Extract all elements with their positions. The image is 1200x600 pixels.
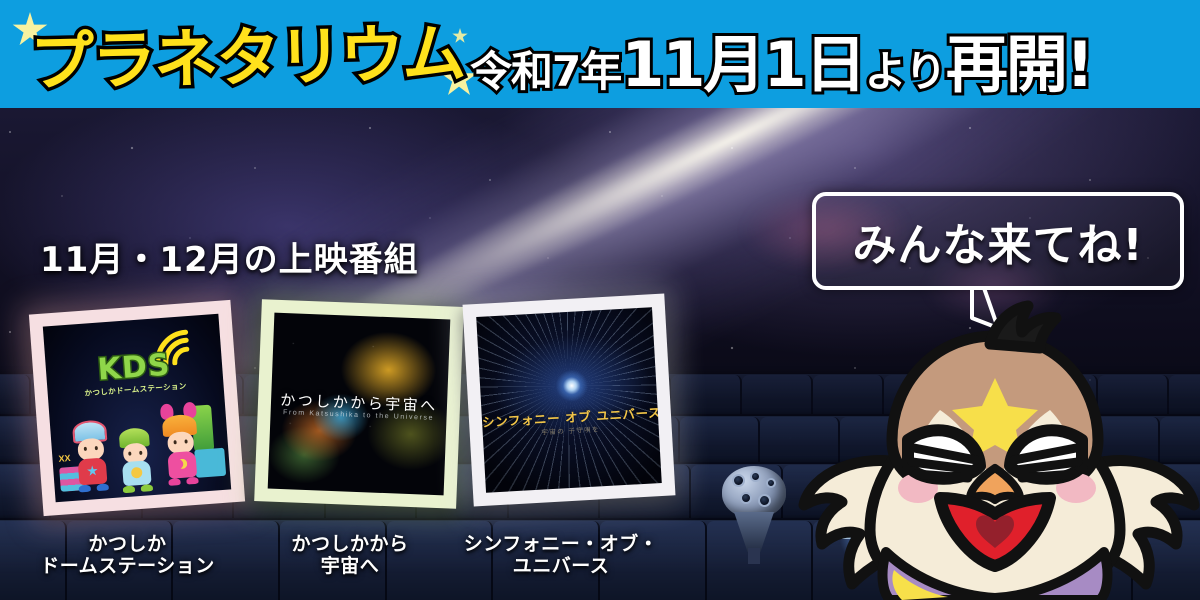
program-card-caption: シンフォニー・オブ・ ユニバース bbox=[448, 533, 674, 578]
star-projector bbox=[718, 466, 790, 562]
kds-character bbox=[162, 414, 201, 486]
projector-stand bbox=[748, 548, 760, 564]
kds-character bbox=[72, 419, 111, 492]
starburst-rays bbox=[476, 307, 662, 493]
projector-sphere bbox=[722, 466, 786, 518]
eye-left bbox=[908, 430, 980, 479]
banner-subtitle-reopen: 再開! bbox=[946, 14, 1092, 104]
program-card-kds[interactable]: KDS かつしかドームステーション XX bbox=[29, 300, 245, 516]
program-card-caption: かつしか ドームステーション bbox=[20, 533, 235, 578]
banner-subtitle-yori: より bbox=[865, 38, 946, 99]
card-artwork-symphony: シンフォニー オブ ユニバース 宇宙の 子守唄を bbox=[476, 307, 662, 493]
head-crest bbox=[990, 306, 1056, 348]
speech-bubble: みんな来てね! bbox=[812, 192, 1184, 290]
poster-stage: プラネタリウム 令和7年 11月1日 より 再開! 11月・12月の上映番組 K… bbox=[0, 0, 1200, 600]
banner-subtitle: 令和7年 11月1日 より 再開! bbox=[470, 14, 1092, 104]
eye-right bbox=[1010, 430, 1082, 479]
kds-character bbox=[119, 427, 154, 493]
card-frame: KDS かつしかドームステーション XX bbox=[29, 300, 245, 516]
banner-title: プラネタリウム bbox=[29, 2, 465, 103]
banner-subtitle-date: 11月1日 bbox=[621, 14, 864, 104]
projector-base bbox=[734, 512, 774, 552]
program-card-caption: かつしかから 宇宙へ bbox=[250, 533, 450, 578]
header-banner: プラネタリウム 令和7年 11月1日 より 再開! bbox=[0, 0, 1200, 108]
card-frame: シンフォニー オブ ユニバース 宇宙の 子守唄を bbox=[463, 294, 676, 507]
card-frame: かつしかから宇宙へ From Katsushika to the Univers… bbox=[254, 299, 464, 509]
bird-mascot bbox=[790, 300, 1200, 600]
kds-decor-text: XX bbox=[58, 453, 71, 464]
program-card-symphony[interactable]: シンフォニー オブ ユニバース 宇宙の 子守唄を bbox=[463, 294, 676, 507]
speech-bubble-text: みんな来てね! bbox=[816, 196, 1180, 286]
card-artwork-universe-katsushika: かつしかから宇宙へ From Katsushika to the Univers… bbox=[268, 313, 451, 496]
banner-subtitle-era: 令和7年 bbox=[470, 38, 621, 99]
program-card-universe-katsushika[interactable]: かつしかから宇宙へ From Katsushika to the Univers… bbox=[254, 299, 464, 509]
card-artwork-kds: KDS かつしかドームステーション XX bbox=[43, 314, 231, 502]
